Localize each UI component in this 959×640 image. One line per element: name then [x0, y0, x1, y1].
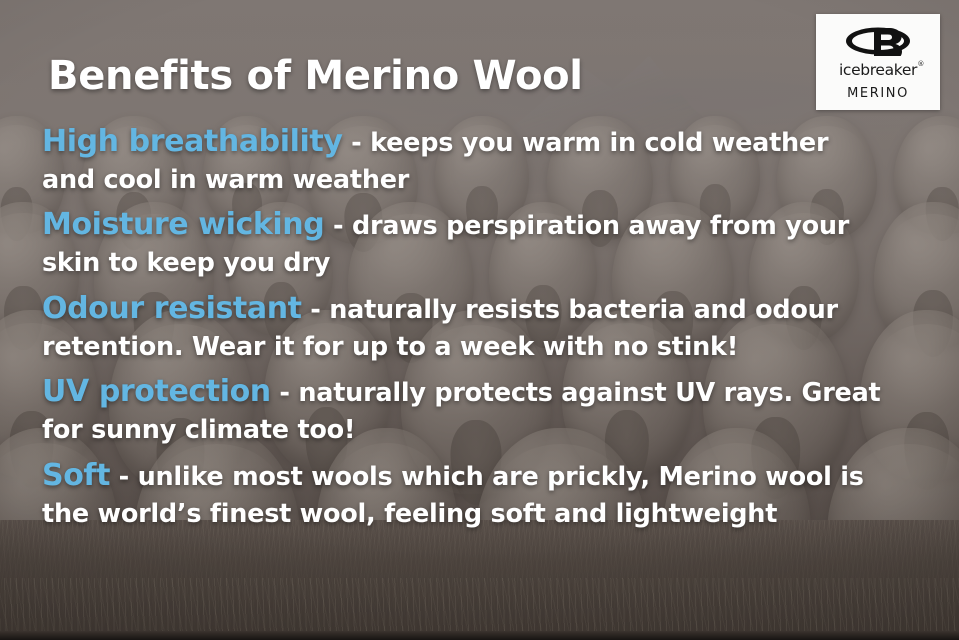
- benefit-separator: -: [302, 295, 330, 325]
- benefit-separator: -: [324, 211, 352, 241]
- benefit-term: Soft: [42, 458, 110, 493]
- benefit-term: Odour resistant: [42, 291, 302, 326]
- list-item: UV protection - naturally protects again…: [42, 372, 887, 447]
- poster-content: Benefits of Merino Wool High breathabili…: [0, 0, 959, 640]
- list-item: Soft - unlike most wools which are prick…: [42, 456, 887, 531]
- list-item: Odour resistant - naturally resists bact…: [42, 289, 887, 364]
- list-item: High breathability - keeps you warm in c…: [42, 122, 887, 197]
- benefit-separator: -: [343, 128, 371, 158]
- benefits-list: High breathability - keeps you warm in c…: [42, 122, 889, 531]
- benefit-term: UV protection: [42, 374, 271, 409]
- poster: icebreaker® MERINO Benefits of Merino Wo…: [0, 0, 959, 640]
- list-item: Moisture wicking - draws perspiration aw…: [42, 205, 887, 280]
- benefit-separator: -: [110, 462, 138, 492]
- benefit-separator: -: [271, 378, 299, 408]
- benefit-description: unlike most wools which are prickly, Mer…: [42, 462, 864, 529]
- page-title: Benefits of Merino Wool: [48, 56, 889, 96]
- benefit-term: High breathability: [42, 124, 343, 159]
- benefit-term: Moisture wicking: [42, 207, 324, 242]
